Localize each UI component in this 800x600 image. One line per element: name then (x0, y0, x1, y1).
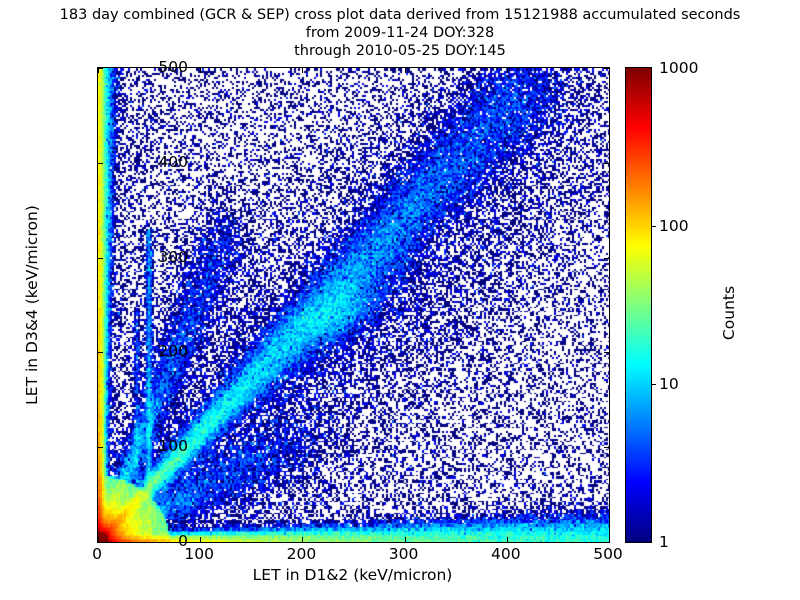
x-tick-label-100: 100 (184, 545, 214, 563)
chart-title: 183 day combined (GCR & SEP) cross plot … (0, 6, 800, 60)
colorbar-tick-label-10: 10 (659, 375, 679, 393)
y-tick-label-200: 200 (158, 342, 188, 360)
x-tick-0 (98, 537, 99, 542)
y-tick-100 (98, 447, 103, 448)
x-tick-top-300 (405, 68, 406, 73)
x-tick-top-400 (507, 68, 508, 73)
colorbar-tick-10 (651, 384, 656, 385)
x-tick-400 (507, 537, 508, 542)
y-axis-label: LET in D3&4 (keV/micron) (23, 68, 41, 542)
x-axis-label: LET in D1&2 (keV/micron) (97, 566, 608, 584)
x-tick-300 (405, 537, 406, 542)
x-tick-top-100 (200, 68, 201, 73)
colorbar-tick-label-100: 100 (659, 217, 689, 235)
colorbar: 1101001000 (625, 67, 652, 543)
y-tick-label-400: 400 (158, 153, 188, 171)
y-tick-right-300 (604, 258, 609, 259)
colorbar-tick-label-1000: 1000 (659, 59, 698, 77)
x-tick-top-0 (98, 68, 99, 73)
colorbar-gradient (626, 68, 651, 542)
y-tick-right-0 (604, 542, 609, 543)
x-tick-top-500 (609, 68, 610, 73)
y-tick-right-400 (604, 163, 609, 164)
colorbar-tick-label-1: 1 (659, 533, 669, 551)
x-tick-label-200: 200 (287, 545, 317, 563)
x-tick-top-200 (302, 68, 303, 73)
y-tick-300 (98, 258, 103, 259)
y-tick-label-500: 500 (158, 58, 188, 76)
heatmap-plot (98, 68, 609, 542)
x-tick-100 (200, 537, 201, 542)
y-tick-label-300: 300 (158, 248, 188, 266)
x-tick-label-400: 400 (491, 545, 521, 563)
chart-title-line-3: through 2010-05-25 DOY:145 (0, 42, 800, 60)
y-tick-200 (98, 352, 103, 353)
x-tick-label-0: 0 (92, 545, 102, 563)
y-tick-right-100 (604, 447, 609, 448)
y-tick-right-200 (604, 352, 609, 353)
x-tick-label-500: 500 (593, 545, 623, 563)
y-tick-400 (98, 163, 103, 164)
x-tick-label-300: 300 (389, 545, 419, 563)
plot-axes (97, 67, 610, 543)
figure-canvas: 183 day combined (GCR & SEP) cross plot … (0, 0, 800, 600)
x-tick-500 (609, 537, 610, 542)
x-tick-200 (302, 537, 303, 542)
y-tick-0 (98, 542, 103, 543)
chart-title-line-1: 183 day combined (GCR & SEP) cross plot … (0, 6, 800, 24)
chart-title-line-2: from 2009-11-24 DOY:328 (0, 24, 800, 42)
colorbar-tick-100 (651, 226, 656, 227)
colorbar-label: Counts (720, 253, 738, 373)
y-tick-label-100: 100 (158, 437, 188, 455)
